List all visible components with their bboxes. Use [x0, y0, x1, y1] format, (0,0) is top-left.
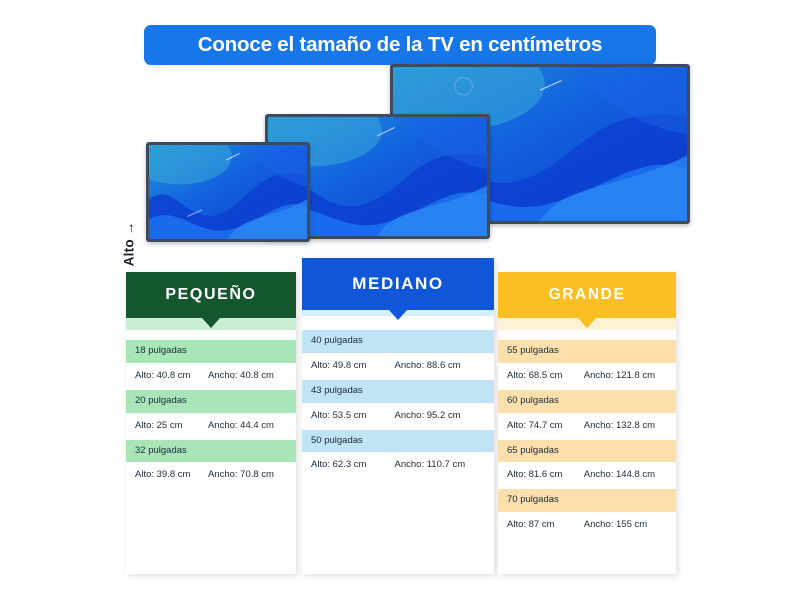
page-title: Conoce el tamaño de la TV en centímetros	[198, 33, 602, 57]
infographic-page: Conoce el tamaño de la TV en centímetros	[0, 0, 800, 600]
size-card-pequeno: PEQUEÑO 18 pulgadas Alto: 40.8 cm Ancho:…	[126, 272, 296, 574]
cell-ancho: Ancho: 40.8 cm	[208, 370, 287, 382]
table-row: 65 pulgadas	[498, 440, 676, 463]
badge-pointer-icon	[389, 310, 407, 320]
table-row: Alto: 25 cm Ancho: 44.4 cm	[126, 413, 296, 440]
cell-alto: Alto: 81.6 cm	[507, 469, 584, 481]
cell-alto: Alto: 62.3 cm	[311, 459, 395, 471]
table-row: 50 pulgadas	[302, 430, 494, 453]
rows-mediano: 40 pulgadas Alto: 49.8 cm Ancho: 88.6 cm…	[302, 330, 494, 479]
table-row: Alto: 74.7 cm Ancho: 132.8 cm	[498, 413, 676, 440]
table-row: Alto: 39.8 cm Ancho: 70.8 cm	[126, 462, 296, 489]
tv-small-screen	[149, 145, 307, 239]
card-spacer	[498, 330, 676, 340]
cell-alto: Alto: 40.8 cm	[135, 370, 208, 382]
cell-ancho: Ancho: 88.6 cm	[395, 360, 485, 372]
tv-illustration: ← Alto → ← Ancho →	[0, 60, 800, 255]
badge-pequeno: PEQUEÑO	[126, 272, 296, 318]
cell-ancho: Ancho: 110.7 cm	[395, 459, 485, 471]
cell-ancho: Ancho: 132.8 cm	[584, 420, 667, 432]
badge-mediano-label: MEDIANO	[352, 274, 443, 294]
table-row: Alto: 87 cm Ancho: 155 cm	[498, 512, 676, 539]
cell-ancho: Ancho: 121.8 cm	[584, 370, 667, 382]
cell-alto: Alto: 68.5 cm	[507, 370, 584, 382]
size-card-grande: GRANDE 55 pulgadas Alto: 68.5 cm Ancho: …	[498, 272, 676, 574]
badge-pequeno-label: PEQUEÑO	[165, 286, 256, 304]
table-row: 32 pulgadas	[126, 440, 296, 463]
rows-grande: 55 pulgadas Alto: 68.5 cm Ancho: 121.8 c…	[498, 340, 676, 539]
rows-pequeno: 18 pulgadas Alto: 40.8 cm Ancho: 40.8 cm…	[126, 340, 296, 489]
table-row: 20 pulgadas	[126, 390, 296, 413]
cell-ancho: Ancho: 155 cm	[584, 519, 667, 531]
cell-alto: Alto: 74.7 cm	[507, 420, 584, 432]
cell-alto: Alto: 39.8 cm	[135, 469, 208, 481]
table-row: Alto: 40.8 cm Ancho: 40.8 cm	[126, 363, 296, 390]
cell-alto: Alto: 49.8 cm	[311, 360, 395, 372]
card-head-pequeno: PEQUEÑO	[126, 272, 296, 330]
tv-wallpaper-icon	[149, 145, 307, 239]
badge-mediano: MEDIANO	[302, 258, 494, 310]
table-row: Alto: 53.5 cm Ancho: 95.2 cm	[302, 403, 494, 430]
badge-pointer-icon	[578, 318, 596, 328]
cell-ancho: Ancho: 70.8 cm	[208, 469, 287, 481]
badge-pointer-icon	[202, 318, 220, 328]
cell-alto: Alto: 87 cm	[507, 519, 584, 531]
cell-alto: Alto: 53.5 cm	[311, 410, 395, 422]
table-row: 70 pulgadas	[498, 489, 676, 512]
cell-ancho: Ancho: 95.2 cm	[395, 410, 485, 422]
table-row: Alto: 49.8 cm Ancho: 88.6 cm	[302, 353, 494, 380]
cell-ancho: Ancho: 44.4 cm	[208, 420, 287, 432]
size-card-mediano: MEDIANO 40 pulgadas Alto: 49.8 cm Ancho:…	[302, 258, 494, 574]
tv-small	[146, 142, 310, 242]
table-row: 55 pulgadas	[498, 340, 676, 363]
badge-grande-label: GRANDE	[549, 286, 626, 304]
table-row: 40 pulgadas	[302, 330, 494, 353]
table-row: Alto: 62.3 cm Ancho: 110.7 cm	[302, 452, 494, 479]
table-row: 43 pulgadas	[302, 380, 494, 403]
cell-ancho: Ancho: 144.8 cm	[584, 469, 667, 481]
title-banner: Conoce el tamaño de la TV en centímetros	[144, 25, 656, 65]
card-spacer	[126, 330, 296, 340]
table-row: 18 pulgadas	[126, 340, 296, 363]
card-head-grande: GRANDE	[498, 272, 676, 330]
table-row: Alto: 68.5 cm Ancho: 121.8 cm	[498, 363, 676, 390]
badge-grande: GRANDE	[498, 272, 676, 318]
table-row: 60 pulgadas	[498, 390, 676, 413]
card-head-mediano: MEDIANO	[302, 258, 494, 316]
cell-alto: Alto: 25 cm	[135, 420, 208, 432]
table-row: Alto: 81.6 cm Ancho: 144.8 cm	[498, 462, 676, 489]
